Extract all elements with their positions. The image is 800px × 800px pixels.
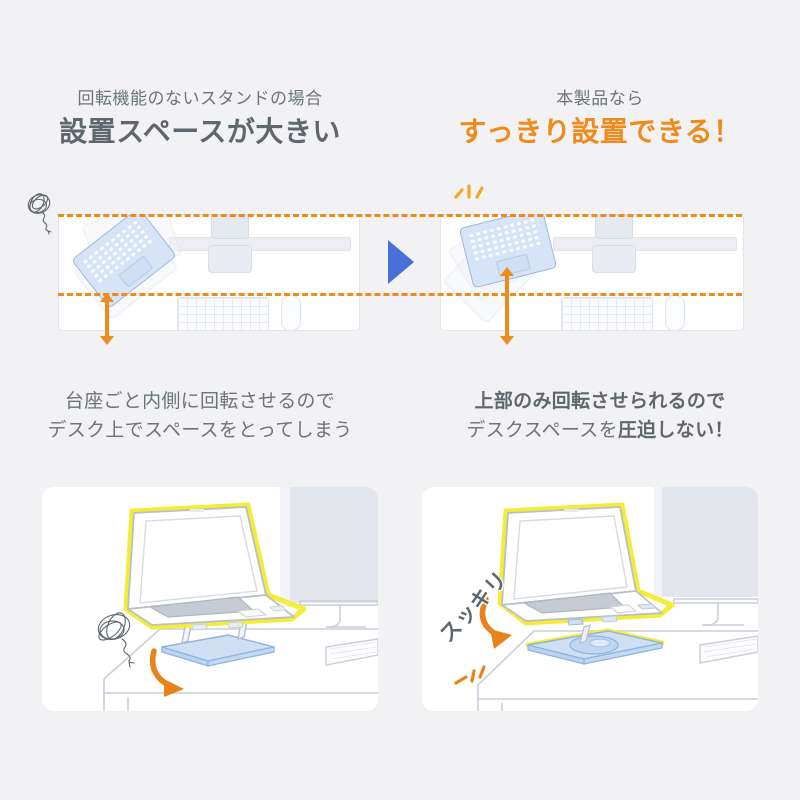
caption-after-line2-plain: デスクスペースを [466, 420, 618, 441]
caption-before-line2: デスク上でスペースをとってしまう [0, 417, 400, 446]
guide-line-top [58, 214, 742, 217]
header-before: 回転機能のないスタンドの場合 設置スペースが大きい [0, 88, 400, 151]
monitor-base-topdown [208, 245, 252, 273]
photo-before [42, 487, 378, 711]
caption-after-line2-bold: 圧迫しない！ [618, 420, 734, 441]
caption-after-line1: 上部のみ回転させられるので [400, 388, 800, 417]
header-after: 本製品なら すっきり設置できる！ [400, 88, 800, 151]
header-after-eyebrow: 本製品なら [400, 88, 800, 110]
caption-before: 台座ごと内側に回転させるので デスク上でスペースをとってしまう [0, 388, 400, 445]
infographic-stage: 回転機能のないスタンドの場合 設置スペースが大きい 本製品なら すっきり設置でき… [0, 0, 800, 800]
caption-after-line2: デスクスペースを圧迫しない！ [400, 417, 800, 446]
monitor-screen-topdown [169, 237, 351, 251]
keyboard-topdown [177, 297, 269, 331]
transition-arrow-icon [388, 240, 414, 284]
mouse-topdown [665, 295, 685, 331]
top-view-comparison-diagram [0, 195, 800, 345]
monitor-base-topdown [592, 245, 636, 273]
keyboard-topdown [561, 297, 653, 331]
monitor-screen-topdown [553, 237, 737, 251]
scribble-frustration-icon [22, 190, 64, 236]
monitor-neck-topdown [595, 215, 633, 239]
desk-panel-after [440, 214, 744, 331]
header-after-headline: すっきり設置できる！ [400, 113, 800, 151]
mouse-topdown [281, 295, 301, 331]
guide-line-bottom [58, 293, 742, 296]
caption-before-line1: 台座ごと内側に回転させるので [0, 388, 400, 417]
sparkle-icon [452, 181, 488, 207]
depth-arrow-after [500, 267, 514, 345]
header-before-headline: 設置スペースが大きい [0, 113, 400, 151]
caption-after: 上部のみ回転させられるので デスクスペースを圧迫しない！ [400, 388, 800, 445]
depth-arrow-before [100, 293, 114, 345]
monitor-neck-topdown [211, 215, 249, 239]
header-before-eyebrow: 回転機能のないスタンドの場合 [0, 88, 400, 110]
